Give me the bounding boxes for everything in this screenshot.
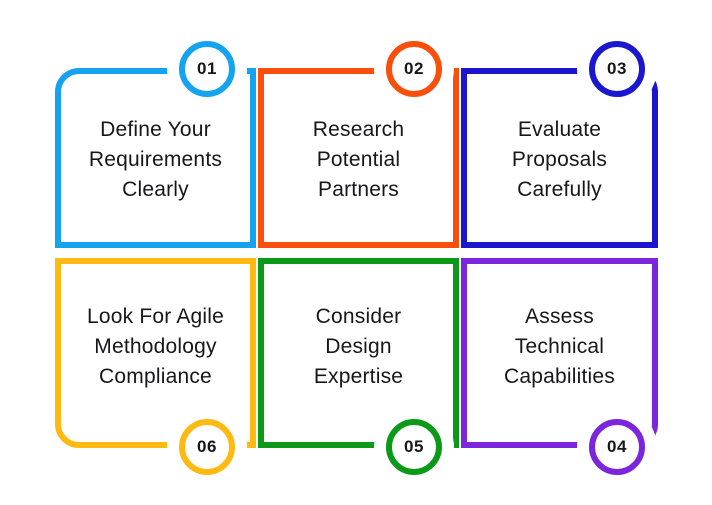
badge-number-04: 04 bbox=[607, 437, 627, 457]
badge-ring-03: 03 bbox=[589, 41, 645, 97]
step-badge-01[interactable]: 01 bbox=[174, 36, 240, 102]
step-title-02: Research Potential Partners bbox=[303, 115, 414, 205]
step-badge-06[interactable]: 06 bbox=[174, 414, 240, 480]
badge-ring-05: 05 bbox=[386, 419, 442, 475]
badge-number-06: 06 bbox=[197, 437, 217, 457]
step-badge-05[interactable]: 05 bbox=[381, 414, 447, 480]
badge-ring-06: 06 bbox=[179, 419, 235, 475]
badge-ring-04: 04 bbox=[589, 419, 645, 475]
step-title-03: Evaluate Proposals Carefully bbox=[502, 115, 617, 205]
step-badge-04[interactable]: 04 bbox=[584, 414, 650, 480]
step-title-05: Consider Design Expertise bbox=[304, 302, 413, 392]
step-badge-03[interactable]: 03 bbox=[584, 36, 650, 102]
badge-number-01: 01 bbox=[197, 59, 217, 79]
badge-number-02: 02 bbox=[404, 59, 424, 79]
badge-ring-01: 01 bbox=[179, 41, 235, 97]
step-title-06: Look For Agile Methodology Compliance bbox=[77, 302, 234, 392]
step-title-04: Assess Technical Capabilities bbox=[494, 302, 625, 392]
badge-ring-02: 02 bbox=[386, 41, 442, 97]
step-badge-02[interactable]: 02 bbox=[381, 36, 447, 102]
step-title-01: Define Your Requirements Clearly bbox=[79, 115, 232, 205]
badge-number-05: 05 bbox=[404, 437, 424, 457]
badge-number-03: 03 bbox=[607, 59, 627, 79]
infographic-root: Define Your Requirements Clearly 01 Rese… bbox=[0, 0, 712, 505]
steps-grid: Define Your Requirements Clearly 01 Rese… bbox=[55, 68, 658, 448]
